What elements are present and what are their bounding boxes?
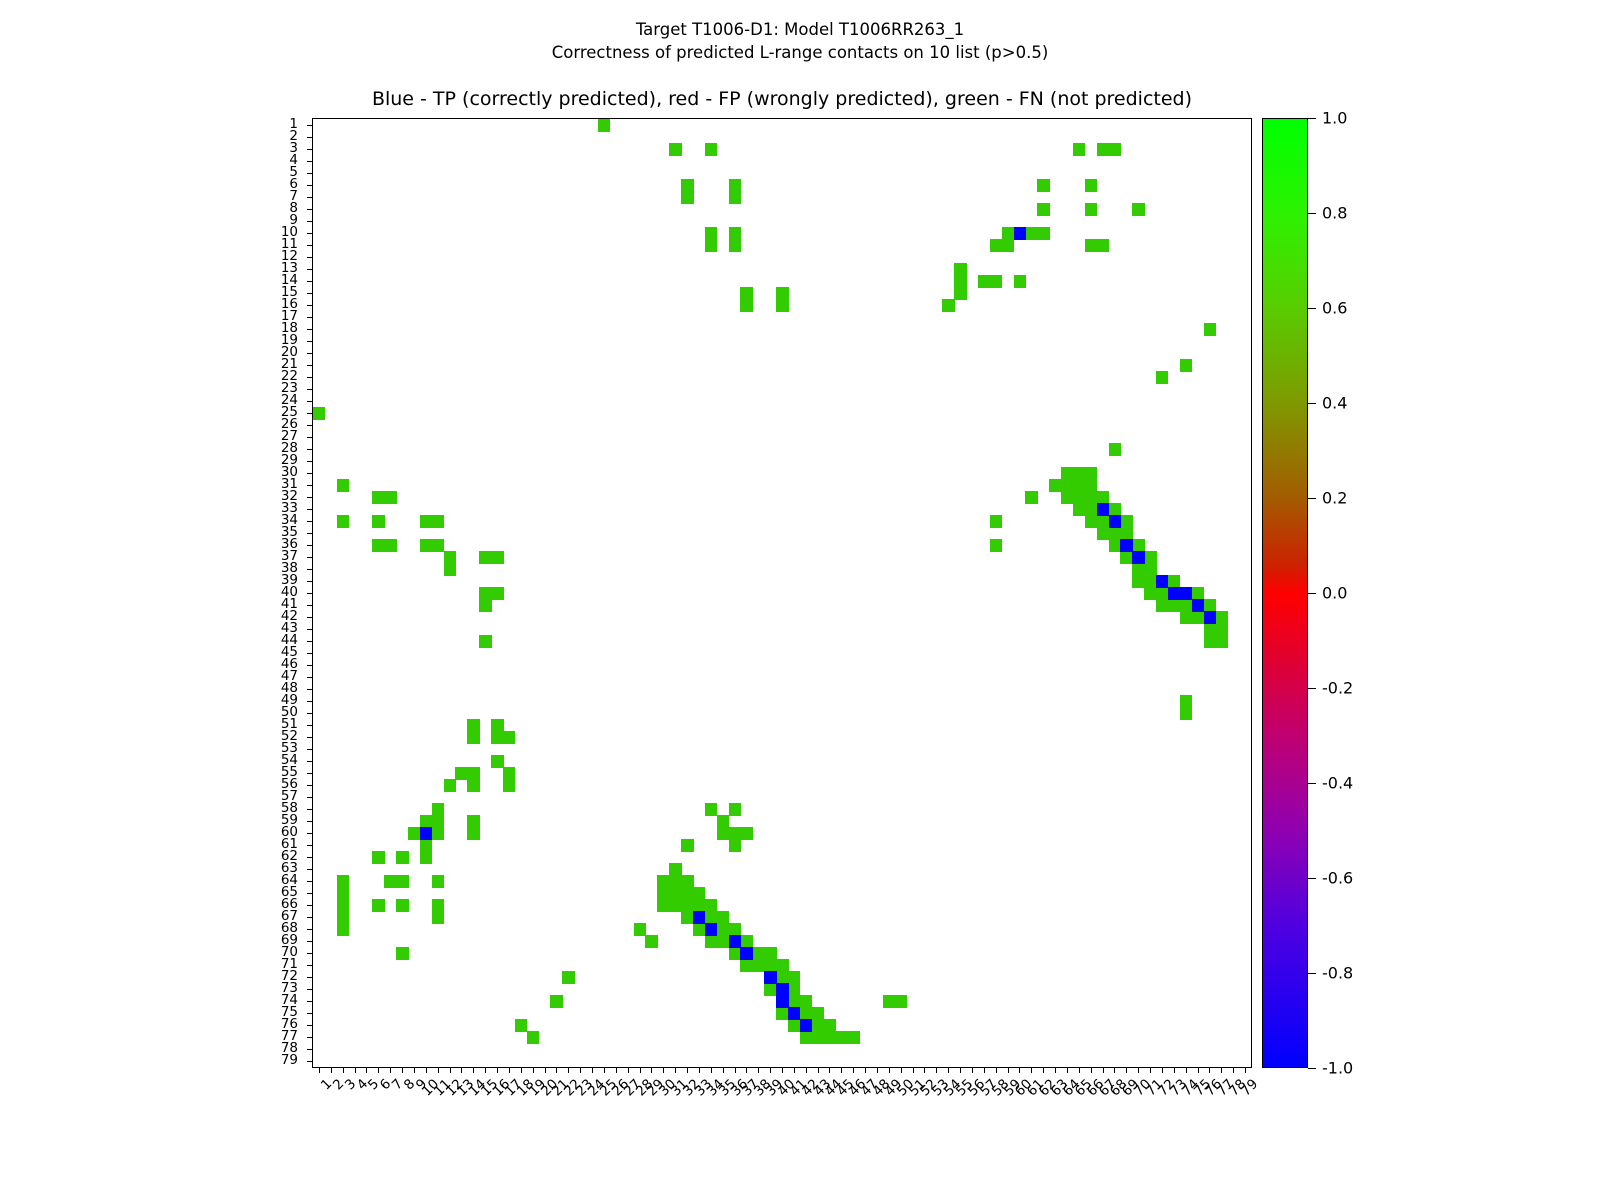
contact-cell-fn [824, 1031, 836, 1044]
contact-cell-fn [729, 947, 741, 960]
y-axis-tick [307, 305, 313, 306]
contact-cell-fn [372, 515, 384, 528]
contact-cell-fn [693, 899, 705, 912]
contact-cell-fn [1085, 479, 1097, 492]
contact-cell-fn [408, 827, 420, 840]
y-axis-tick [307, 245, 313, 246]
contact-cell-fn [432, 875, 444, 888]
contact-cell-fn [1180, 707, 1192, 720]
y-axis-tick [307, 737, 313, 738]
colorbar-tick-label: 0.8 [1322, 204, 1347, 223]
contact-map-figure: Target T1006-D1: Model T1006RR263_1 Corr… [0, 0, 1600, 1200]
contact-cell-fn [669, 875, 681, 888]
contact-cell-fn [491, 551, 503, 564]
colorbar-tick [1308, 498, 1316, 499]
contact-cell-fn [1025, 491, 1037, 504]
y-axis-tick [307, 437, 313, 438]
contact-cell-fn [1156, 587, 1168, 600]
y-axis-tick [307, 341, 313, 342]
y-axis-tick [307, 257, 313, 258]
contact-cell-fn [1204, 323, 1216, 336]
contact-cell-fn [372, 851, 384, 864]
y-axis-tick [307, 533, 313, 534]
y-axis-tick [307, 233, 313, 234]
contact-cell-fn [491, 587, 503, 600]
contact-cell-fn [847, 1031, 859, 1044]
contact-cell-tp [420, 827, 432, 840]
contact-cell-fn [1109, 143, 1121, 156]
y-axis-tick [307, 773, 313, 774]
contact-cell-fn [396, 875, 408, 888]
contact-cell-fn [681, 899, 693, 912]
contact-cell-fn [776, 299, 788, 312]
contact-cell-tp [693, 911, 705, 924]
contact-cell-fn [752, 947, 764, 960]
colorbar-tick-label: -0.2 [1322, 679, 1353, 698]
colorbar-tick-label: -1.0 [1322, 1059, 1353, 1078]
contact-cell-fn [835, 1031, 847, 1044]
contact-cell-fn [598, 119, 610, 132]
contact-cell-fn [467, 827, 479, 840]
contact-cell-tp [1097, 503, 1109, 516]
contact-cell-fn [1204, 599, 1216, 612]
contact-cell-fn [527, 1031, 539, 1044]
contact-cell-fn [479, 635, 491, 648]
contact-cell-fn [420, 815, 432, 828]
y-axis-tick [307, 485, 313, 486]
contact-cell-fn [1025, 227, 1037, 240]
colorbar-tick-labels: 1.00.80.60.40.20.0-0.2-0.4-0.6-0.8-1.0 [1308, 118, 1428, 1068]
contact-cell-fn [1085, 491, 1097, 504]
contact-cell-fn [634, 923, 646, 936]
contact-cell-fn [1073, 467, 1085, 480]
contact-cell-fn [467, 731, 479, 744]
contact-cell-fn [990, 275, 1002, 288]
contact-cell-fn [1085, 503, 1097, 516]
contact-cell-fn [1144, 563, 1156, 576]
y-axis-tick [307, 677, 313, 678]
contact-cell-fn [717, 911, 729, 924]
y-axis-tick-label: 79 [281, 1052, 298, 1068]
contact-cell-fn [444, 551, 456, 564]
y-axis-tick [307, 161, 313, 162]
contact-cell-fn [942, 299, 954, 312]
contact-cell-fn [337, 887, 349, 900]
contact-cell-fn [705, 143, 717, 156]
y-axis-tick [307, 209, 313, 210]
contact-cell-fn [1037, 227, 1049, 240]
y-axis-tick [307, 989, 313, 990]
y-axis-tick [307, 689, 313, 690]
contact-cell-fn [669, 863, 681, 876]
contact-cell-fn [1049, 479, 1061, 492]
y-axis-tick [307, 173, 313, 174]
contact-cell-fn [432, 539, 444, 552]
contact-cell-tp [729, 935, 741, 948]
contact-cell-fn [800, 1031, 812, 1044]
contact-cell-fn [990, 239, 1002, 252]
colorbar-tick-label: -0.4 [1322, 774, 1353, 793]
contact-cell-fn [764, 959, 776, 972]
contact-cell-fn [372, 491, 384, 504]
contact-cell-fn [384, 539, 396, 552]
colorbar-tick [1308, 878, 1316, 879]
contact-cell-fn [503, 767, 515, 780]
contact-cell-fn [954, 287, 966, 300]
contact-cell-fn [824, 1019, 836, 1032]
contact-cell-fn [479, 551, 491, 564]
contact-cell-fn [776, 971, 788, 984]
contact-cell-fn [1180, 359, 1192, 372]
contact-cell-fn [740, 299, 752, 312]
contact-cell-fn [717, 935, 729, 948]
contact-cell-fn [693, 923, 705, 936]
contact-cell-fn [1180, 611, 1192, 624]
x-axis-tick-labels: 1234567891011121314151617181920212223242… [312, 1070, 1252, 1190]
contact-cell-fn [764, 947, 776, 960]
y-axis-tick [307, 497, 313, 498]
contact-cell-fn [432, 515, 444, 528]
contact-cell-fn [1061, 479, 1073, 492]
y-axis-tick [307, 725, 313, 726]
contact-cell-fn [1215, 635, 1227, 648]
contact-cell-fn [1073, 143, 1085, 156]
contact-cell-fn [432, 911, 444, 924]
colorbar-tick [1308, 403, 1316, 404]
y-axis-tick [307, 1037, 313, 1038]
contact-cell-fn [705, 899, 717, 912]
y-axis-tick [307, 557, 313, 558]
colorbar-tick [1308, 783, 1316, 784]
y-axis-tick [307, 1001, 313, 1002]
y-axis-tick [307, 1049, 313, 1050]
contact-cell-fn [812, 1031, 824, 1044]
contact-cell-fn [420, 851, 432, 864]
contact-cell-fn [1156, 371, 1168, 384]
contact-cell-fn [1215, 611, 1227, 624]
contact-cell-fn [337, 515, 349, 528]
y-axis-tick [307, 581, 313, 582]
y-axis-tick [307, 833, 313, 834]
contact-cell-fn [645, 935, 657, 948]
contact-cell-fn [669, 143, 681, 156]
colorbar-tick-label: 1.0 [1322, 109, 1347, 128]
contact-cell-fn [313, 407, 325, 420]
y-axis-tick [307, 1061, 313, 1062]
contact-cell-fn [1037, 179, 1049, 192]
y-axis-tick [307, 449, 313, 450]
contact-cell-fn [776, 959, 788, 972]
y-axis-tick [307, 605, 313, 606]
contact-cell-fn [1204, 623, 1216, 636]
y-axis-tick [307, 797, 313, 798]
contact-cell-fn [729, 227, 741, 240]
y-axis-tick [307, 941, 313, 942]
colorbar-tick [1308, 118, 1316, 119]
contact-cell-fn [384, 491, 396, 504]
y-axis-tick [307, 293, 313, 294]
y-axis-tick [307, 221, 313, 222]
contact-cell-fn [1073, 491, 1085, 504]
y-axis-tick [307, 869, 313, 870]
contact-cell-fn [681, 191, 693, 204]
contact-cell-fn [1132, 563, 1144, 576]
y-axis-tick [307, 785, 313, 786]
y-axis-tick [307, 641, 313, 642]
contact-cell-fn [1168, 599, 1180, 612]
y-axis-tick [307, 965, 313, 966]
y-axis-tick [307, 629, 313, 630]
contact-cell-tp [776, 995, 788, 1008]
y-axis-tick [307, 413, 313, 414]
contact-cell-fn [1168, 575, 1180, 588]
contact-cell-fn [764, 983, 776, 996]
y-axis-tick [307, 665, 313, 666]
contact-cell-fn [1073, 479, 1085, 492]
contact-cell-fn [467, 719, 479, 732]
colorbar-tick [1308, 213, 1316, 214]
contact-cell-fn [657, 899, 669, 912]
y-axis-tick [307, 881, 313, 882]
contact-cell-fn [1132, 575, 1144, 588]
contact-cell-fn [420, 839, 432, 852]
contact-cell-fn [693, 887, 705, 900]
contact-cell-fn [729, 179, 741, 192]
contact-cell-tp [1109, 515, 1121, 528]
contact-cell-fn [1097, 143, 1109, 156]
y-axis-tick [307, 125, 313, 126]
y-axis-tick [307, 389, 313, 390]
contact-cell-fn [515, 1019, 527, 1032]
y-axis-tick [307, 425, 313, 426]
contact-cell-fn [705, 911, 717, 924]
contact-cell-fn [1180, 695, 1192, 708]
contact-cell-tp [764, 971, 776, 984]
y-axis-tick [307, 617, 313, 618]
contact-cell-fn [657, 875, 669, 888]
contact-cell-fn [717, 923, 729, 936]
contact-cell-fn [1120, 515, 1132, 528]
contact-cell-fn [776, 287, 788, 300]
contact-cell-fn [467, 767, 479, 780]
colorbar-tick-label: 0.6 [1322, 299, 1347, 318]
contact-cell-fn [420, 515, 432, 528]
contact-cell-fn [729, 239, 741, 252]
contact-cell-fn [990, 515, 1002, 528]
y-axis-tick [307, 977, 313, 978]
y-axis-tick [307, 1025, 313, 1026]
y-axis-tick [307, 137, 313, 138]
y-axis-tick [307, 185, 313, 186]
contact-cell-fn [883, 995, 895, 1008]
y-axis-tick [307, 593, 313, 594]
contact-cell-fn [729, 827, 741, 840]
contact-cell-fn [1085, 467, 1097, 480]
contact-cell-fn [1002, 227, 1014, 240]
y-axis-tick [307, 545, 313, 546]
contact-cell-fn [717, 827, 729, 840]
y-axis-tick [307, 329, 313, 330]
contact-cell-tp [740, 947, 752, 960]
y-axis-tick [307, 377, 313, 378]
contact-cell-fn [705, 803, 717, 816]
contact-cell-fn [1073, 503, 1085, 516]
y-axis-tick [307, 197, 313, 198]
contact-cell-fn [1085, 239, 1097, 252]
contact-cell-fn [491, 755, 503, 768]
y-axis-tick [307, 353, 313, 354]
contact-cell-fn [1144, 587, 1156, 600]
y-axis-tick [307, 509, 313, 510]
y-axis-tick [307, 857, 313, 858]
contact-cell-tp [800, 1019, 812, 1032]
contact-cell-fn [491, 719, 503, 732]
contact-cell-tp [788, 1007, 800, 1020]
contact-cell-fn [491, 731, 503, 744]
y-axis-tick [307, 821, 313, 822]
y-axis-tick [307, 461, 313, 462]
axes-title-legend: Blue - TP (correctly predicted), red - F… [312, 88, 1252, 110]
contact-cell-fn [1085, 203, 1097, 216]
contact-cell-fn [420, 539, 432, 552]
contact-cell-fn [788, 971, 800, 984]
y-axis-tick [307, 149, 313, 150]
y-axis-tick [307, 917, 313, 918]
contact-cell-fn [372, 539, 384, 552]
contact-cell-fn [1002, 239, 1014, 252]
contact-cell-tp [1168, 587, 1180, 600]
contact-cell-tp [1156, 575, 1168, 588]
contact-cell-fn [740, 287, 752, 300]
contact-cell-fn [657, 887, 669, 900]
colorbar-tick [1308, 688, 1316, 689]
y-axis-tick [307, 317, 313, 318]
contact-cell-fn [729, 839, 741, 852]
contact-cell-tp [1120, 539, 1132, 552]
contact-cell-fn [681, 839, 693, 852]
contact-cell-fn [337, 923, 349, 936]
contact-cell-fn [740, 959, 752, 972]
contact-cell-fn [444, 563, 456, 576]
contact-cell-fn [1097, 239, 1109, 252]
contact-cell-fn [1061, 467, 1073, 480]
contact-cell-fn [1180, 599, 1192, 612]
y-axis-tick-labels: 1234567891011121314151617181920212223242… [0, 118, 306, 1068]
contact-cell-fn [1085, 515, 1097, 528]
contact-cell-tp [705, 923, 717, 936]
contact-cell-fn [396, 899, 408, 912]
contact-cell-fn [1014, 275, 1026, 288]
contact-cell-fn [432, 815, 444, 828]
contact-cell-fn [978, 275, 990, 288]
contact-cell-fn [337, 899, 349, 912]
colorbar-tick [1308, 308, 1316, 309]
contact-cell-fn [372, 899, 384, 912]
contact-cell-fn [669, 887, 681, 900]
y-axis-tick [307, 749, 313, 750]
y-axis-tick [307, 893, 313, 894]
y-axis-tick [307, 401, 313, 402]
contact-cell-fn [681, 887, 693, 900]
y-axis-tick [307, 569, 313, 570]
contact-cell-fn [1132, 203, 1144, 216]
y-axis-tick [307, 905, 313, 906]
contact-cell-fn [1037, 203, 1049, 216]
contact-cell-fn [444, 779, 456, 792]
y-axis-tick [307, 473, 313, 474]
y-axis-tick [307, 653, 313, 654]
contact-cell-fn [337, 911, 349, 924]
contact-cell-fn [1204, 635, 1216, 648]
contact-cell-fn [432, 827, 444, 840]
colorbar-tick-label: 0.0 [1322, 584, 1347, 603]
contact-cell-fn [1144, 575, 1156, 588]
contact-cell-fn [1109, 539, 1121, 552]
y-axis-tick [307, 809, 313, 810]
contact-cell-fn [455, 767, 467, 780]
contact-cells-layer [313, 119, 1251, 1067]
contact-cell-fn [1144, 551, 1156, 564]
contact-cell-fn [740, 827, 752, 840]
contact-cell-fn [990, 539, 1002, 552]
contact-cell-fn [705, 935, 717, 948]
contact-cell-tp [1132, 551, 1144, 564]
contact-cell-fn [503, 779, 515, 792]
contact-cell-fn [396, 851, 408, 864]
contact-cell-fn [1120, 527, 1132, 540]
contact-cell-fn [1109, 527, 1121, 540]
contact-cell-fn [954, 275, 966, 288]
colorbar-tick-label: 0.4 [1322, 394, 1347, 413]
contact-cell-fn [681, 911, 693, 924]
contact-cell-tp [1014, 227, 1026, 240]
contact-cell-fn [467, 815, 479, 828]
contact-cell-fn [812, 1019, 824, 1032]
contact-cell-fn [1085, 179, 1097, 192]
y-axis-tick [307, 713, 313, 714]
y-axis-tick [307, 761, 313, 762]
suptitle-line-1: Target T1006-D1: Model T1006RR263_1 [0, 18, 1600, 41]
contact-cell-fn [384, 875, 396, 888]
y-axis-tick [307, 845, 313, 846]
contact-cell-fn [705, 227, 717, 240]
contact-cell-fn [1132, 539, 1144, 552]
colorbar-tick [1308, 973, 1316, 974]
contact-cell-fn [562, 971, 574, 984]
contact-cell-fn [800, 1007, 812, 1020]
contact-cell-fn [895, 995, 907, 1008]
colorbar-gradient [1262, 118, 1308, 1068]
colorbar-tick [1308, 593, 1316, 594]
contact-cell-fn [396, 947, 408, 960]
contact-cell-fn [812, 1007, 824, 1020]
contact-cell-fn [788, 983, 800, 996]
contact-cell-fn [1156, 599, 1168, 612]
contact-cell-tp [1192, 599, 1204, 612]
contact-cell-fn [729, 803, 741, 816]
y-axis-tick [307, 1013, 313, 1014]
contact-cell-fn [705, 239, 717, 252]
y-axis-tick [307, 701, 313, 702]
suptitle-line-2: Correctness of predicted L-range contact… [0, 41, 1600, 64]
contact-cell-fn [729, 191, 741, 204]
contact-cell-fn [740, 935, 752, 948]
contact-cell-fn [337, 875, 349, 888]
contact-cell-fn [1061, 491, 1073, 504]
contact-cell-fn [788, 1019, 800, 1032]
contact-map-plot-area[interactable] [312, 118, 1252, 1068]
contact-cell-fn [1120, 551, 1132, 564]
